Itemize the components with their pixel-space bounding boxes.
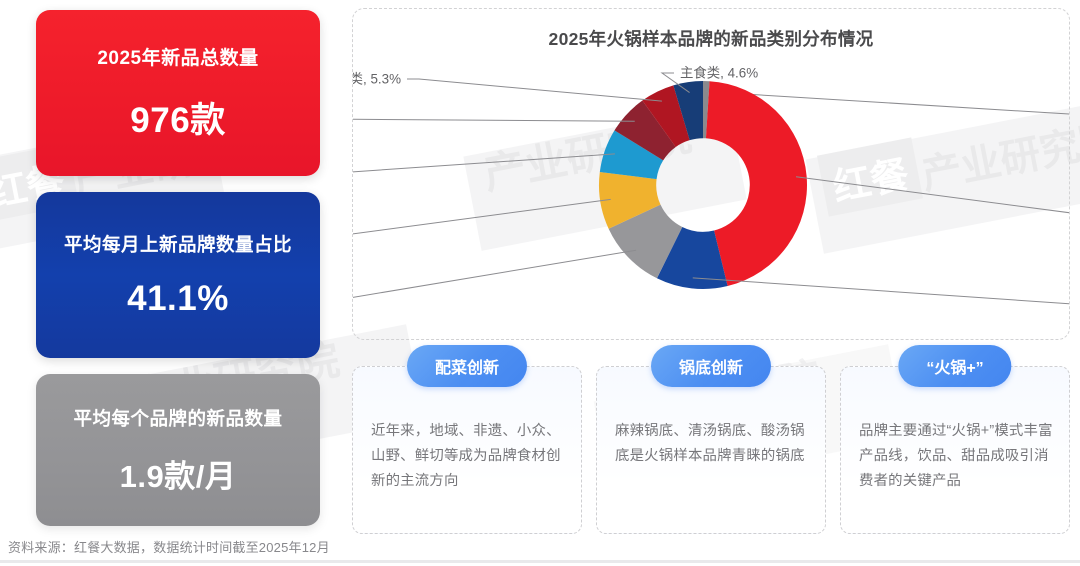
footer-divider	[0, 560, 1080, 563]
pie-leader-line	[353, 154, 615, 175]
kpi-card-avg-per-brand[interactable]: 平均每个品牌的新品数量 1.9款/月	[36, 374, 320, 526]
kpi-title: 2025年新品总数量	[97, 43, 258, 70]
kpi-value: 976款	[130, 92, 225, 143]
pie-leader-line	[353, 119, 635, 121]
note-pill[interactable]: 锅底创新	[651, 345, 771, 387]
pie-leader-line	[693, 278, 1069, 305]
pie-leader-line	[353, 250, 636, 305]
kpi-title: 平均每月上新品牌数量占比	[64, 231, 292, 257]
note-card-ingredient-innovation[interactable]: 配菜创新 近年来，地域、非遗、小众、山野、鲜切等成为品牌食材创新的主流方向	[352, 366, 582, 534]
chart-panel: 2025年火锅样本品牌的新品类别分布情况 烧烤类, 1.0%火锅配菜类, 45.…	[352, 8, 1070, 340]
note-card-hotpot-plus[interactable]: “火锅+” 品牌主要通过“火锅+”模式丰富产品线，饮品、甜品成吸引消费者的关键产…	[840, 366, 1070, 534]
kpi-card-total-new-products[interactable]: 2025年新品总数量 976款	[36, 10, 320, 176]
pie-slice-label: 其他类, 5.3%	[353, 72, 401, 87]
donut-chart[interactable]: 烧烤类, 1.0%火锅配菜类, 45.2%锅底类, 11.1%饮品类, 10.8…	[353, 9, 1069, 339]
kpi-value: 1.9款/月	[120, 451, 237, 496]
note-pill[interactable]: 配菜创新	[407, 345, 527, 387]
source-footnote: 资料来源：红餐大数据，数据统计时间截至2025年12月	[8, 537, 330, 556]
pie-leader-line	[407, 79, 662, 101]
kpi-card-monthly-brand-share[interactable]: 平均每月上新品牌数量占比 41.1%	[36, 192, 320, 358]
kpi-value: 41.1%	[127, 279, 229, 319]
pie-leader-line	[796, 177, 1069, 219]
note-body: 近年来，地域、非遗、小众、山野、鲜切等成为品牌食材创新的主流方向	[371, 419, 565, 493]
pie-leader-line	[353, 199, 611, 240]
pie-slice-label: 主食类, 4.6%	[680, 65, 758, 81]
note-body: 麻辣锅底、清汤锅底、酸汤锅底是火锅样本品牌青睐的锅底	[615, 419, 809, 469]
note-card-soup-base-innovation[interactable]: 锅底创新 麻辣锅底、清汤锅底、酸汤锅底是火锅样本品牌青睐的锅底	[596, 366, 826, 534]
kpi-title: 平均每个品牌的新品数量	[73, 405, 282, 431]
pie-slice[interactable]	[706, 81, 807, 286]
note-pill[interactable]: “火锅+”	[898, 345, 1011, 387]
donut-chart-svg: 烧烤类, 1.0%火锅配菜类, 45.2%锅底类, 11.1%饮品类, 10.8…	[353, 9, 1069, 339]
note-body: 品牌主要通过“火锅+”模式丰富产品线，饮品、甜品成吸引消费者的关键产品	[859, 419, 1053, 493]
